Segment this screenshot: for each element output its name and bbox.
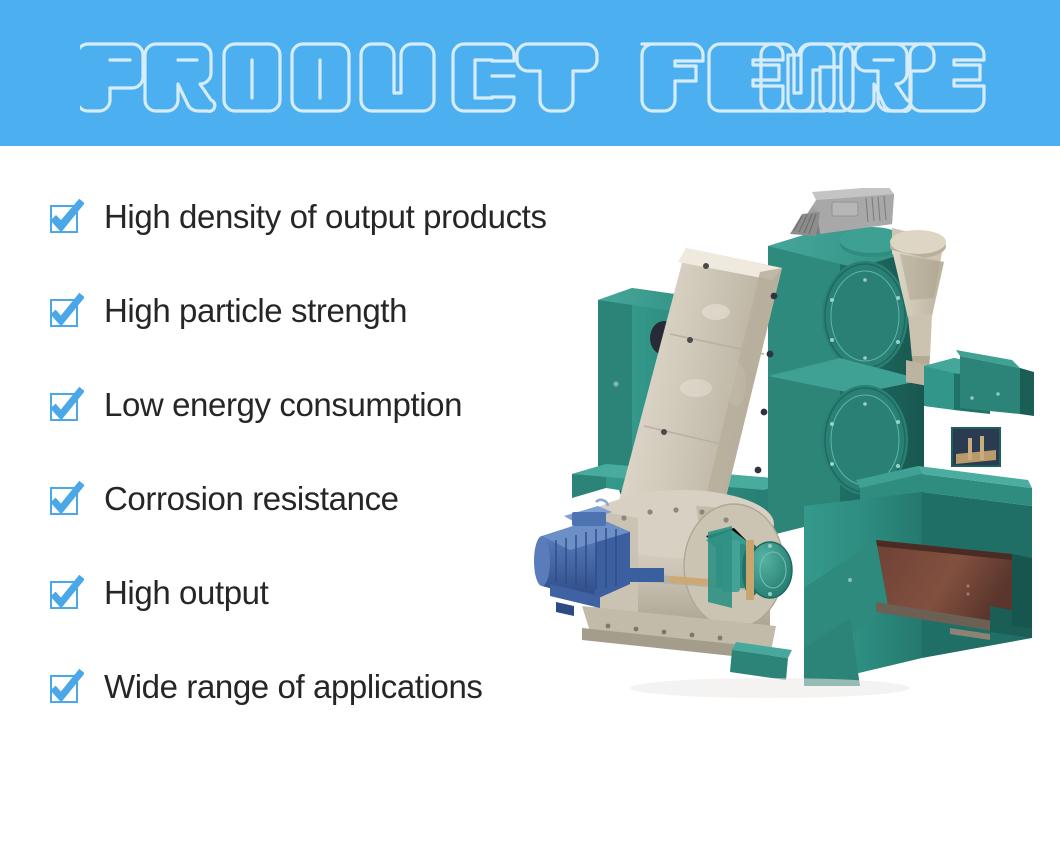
feature-label: Low energy consumption: [104, 387, 462, 423]
feature-label: High output: [104, 575, 268, 611]
checkmark-icon: [48, 669, 84, 705]
feature-label: Corrosion resistance: [104, 481, 399, 517]
check-glyph: [48, 293, 84, 329]
checkmark-icon: [48, 387, 84, 423]
industrial-granulator-machine-photo: [520, 188, 1050, 723]
check-glyph: [48, 387, 84, 423]
checkmark-icon: [48, 481, 84, 517]
checkmark-icon: [48, 293, 84, 329]
page-title: [0, 30, 1060, 114]
inspection-window: [952, 428, 1000, 466]
checkmark-icon: [48, 199, 84, 235]
feature-label: Wide range of applications: [104, 669, 483, 705]
feature-label: High density of output products: [104, 199, 547, 235]
page-title-outline-text: [80, 30, 980, 114]
product-feature-page: High density of output products High par…: [0, 0, 1060, 846]
check-glyph: [48, 575, 84, 611]
check-glyph: [48, 199, 84, 235]
check-glyph: [48, 481, 84, 517]
access-panel-upper: [822, 261, 908, 371]
feature-label: High particle strength: [104, 293, 407, 329]
check-glyph: [48, 669, 84, 705]
header-banner: [0, 0, 1060, 146]
checkmark-icon: [48, 575, 84, 611]
